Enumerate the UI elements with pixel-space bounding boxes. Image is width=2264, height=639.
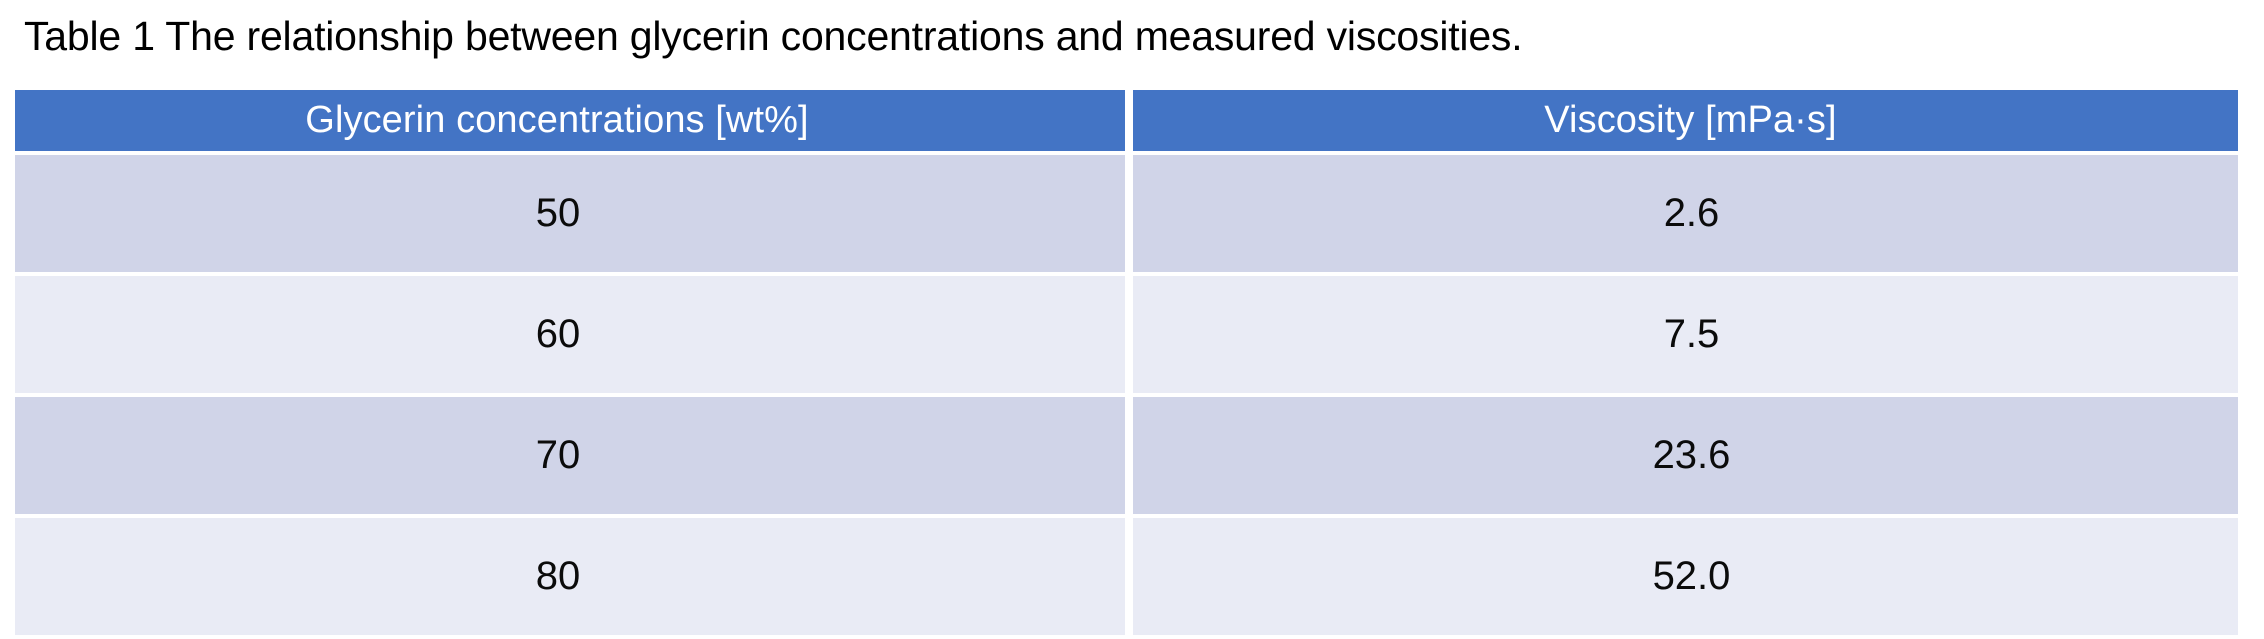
cell-viscosity-value: 52.0 [1653, 554, 1731, 599]
column-header-viscosity-label: Viscosity [mPa·s] [1544, 99, 1836, 142]
cell-viscosity: 7.5 [1133, 276, 2238, 393]
table-row: 80 52.0 [15, 518, 2238, 635]
table-row: 70 23.6 [15, 397, 2238, 514]
table-row: 60 7.5 [15, 276, 2238, 393]
cell-concentration: 70 [15, 397, 1125, 514]
cell-viscosity: 52.0 [1133, 518, 2238, 635]
column-header-glycerin-concentrations-label: Glycerin concentrations [wt%] [305, 99, 808, 142]
cell-concentration-value: 50 [536, 191, 581, 236]
cell-concentration-value: 70 [536, 433, 581, 478]
table-header-row: Glycerin concentrations [wt%] Viscosity … [15, 90, 2238, 151]
cell-concentration: 60 [15, 276, 1125, 393]
cell-concentration: 80 [15, 518, 1125, 635]
cell-viscosity-value: 7.5 [1664, 312, 1720, 357]
cell-viscosity-value: 2.6 [1664, 191, 1720, 236]
column-header-viscosity: Viscosity [mPa·s] [1133, 90, 2238, 151]
cell-viscosity: 2.6 [1133, 155, 2238, 272]
cell-concentration-value: 80 [536, 554, 581, 599]
cell-viscosity-value: 23.6 [1653, 433, 1731, 478]
cell-concentration: 50 [15, 155, 1125, 272]
table-figure: Table 1 The relationship between glyceri… [0, 0, 2264, 638]
column-header-glycerin-concentrations: Glycerin concentrations [wt%] [15, 90, 1125, 151]
table-row: 50 2.6 [15, 155, 2238, 272]
cell-viscosity: 23.6 [1133, 397, 2238, 514]
cell-concentration-value: 60 [536, 312, 581, 357]
table-caption: Table 1 The relationship between glyceri… [24, 8, 2244, 64]
data-table: Glycerin concentrations [wt%] Viscosity … [15, 90, 2238, 639]
